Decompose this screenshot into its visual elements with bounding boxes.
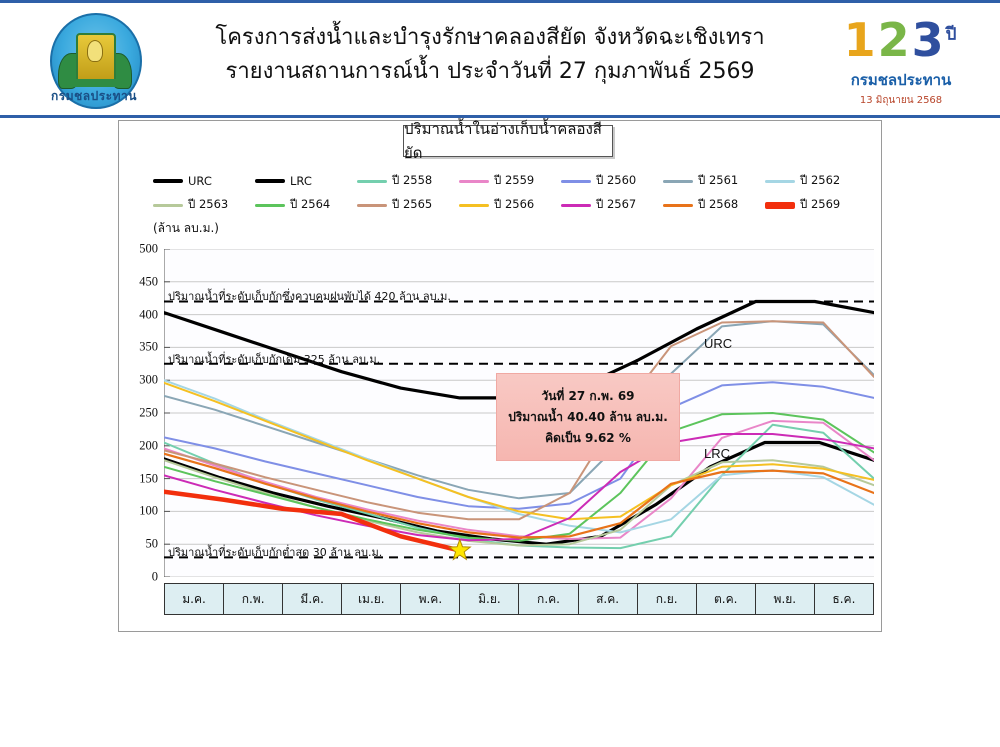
legend-item-URC[interactable]: URC: [153, 174, 255, 188]
legend-label: ปี 2559: [494, 172, 534, 190]
reference-line-label: ปริมาณน้ำที่ระดับเก็บกักเดิม 325 ล้าน ลบ…: [168, 350, 380, 368]
legend-label: ปี 2564: [290, 196, 330, 214]
legend-item-ปี-2560[interactable]: ปี 2560: [561, 172, 663, 190]
legend-item-ปี-2567[interactable]: ปี 2567: [561, 196, 663, 214]
chart-container: ปริมาณน้ำในอ่างเก็บน้ำคลองสียัด URCLRCปี…: [118, 120, 882, 632]
royal-irrigation-department-emblem: กรมชลประทาน: [32, 9, 156, 121]
month-axis-cell: ต.ค.: [697, 584, 756, 614]
legend-swatch-icon: [663, 180, 693, 183]
legend-row: URCLRCปี 2558ปี 2559ปี 2560ปี 2561ปี 256…: [153, 169, 869, 193]
y-axis-tick-label: 200: [139, 438, 158, 453]
legend-label: ปี 2566: [494, 196, 534, 214]
legend-swatch-icon: [153, 179, 183, 183]
emblem-deity-icon: [87, 40, 103, 62]
legend-label: ปี 2569: [800, 196, 840, 214]
month-axis-cell: มี.ค.: [283, 584, 342, 614]
logo-year-unit: ปี: [946, 25, 959, 45]
y-axis-tick-label: 250: [139, 406, 158, 421]
y-axis-tick-label: 150: [139, 471, 158, 486]
reference-line-label: ปริมาณน้ำที่ระดับเก็บกักต่ำสุด 30 ล้าน ล…: [168, 543, 382, 561]
page-header: กรมชลประทาน โครงการส่งน้ำและบำรุงรักษาคล…: [0, 0, 1000, 118]
anniversary-glyphs: 123ปี: [816, 17, 986, 63]
legend-item-ปี-2562[interactable]: ปี 2562: [765, 172, 867, 190]
legend-label: ปี 2562: [800, 172, 840, 190]
y-axis-tick-label: 450: [139, 274, 158, 289]
legend-swatch-icon: [459, 204, 489, 207]
y-axis-tick-label: 50: [146, 537, 159, 552]
legend-label: ปี 2567: [596, 196, 636, 214]
legend-swatch-icon: [357, 204, 387, 207]
chart-title: ปริมาณน้ำในอ่างเก็บน้ำคลองสียัด: [403, 125, 613, 157]
legend-swatch-icon: [765, 202, 795, 209]
month-axis: ม.ค.ก.พ.มี.ค.เม.ย.พ.ค.มิ.ย.ก.ค.ส.ค.ก.ย.ต…: [164, 583, 874, 615]
inline-series-label-lrc: LRC: [704, 446, 730, 461]
month-axis-cell: มิ.ย.: [460, 584, 519, 614]
legend-swatch-icon: [459, 180, 489, 183]
logo-date: 13 มิถุนายน 2568: [816, 93, 986, 108]
month-axis-cell: ส.ค.: [579, 584, 638, 614]
callout-date: วันที่ 27 ก.พ. 69: [541, 386, 634, 407]
legend-swatch-icon: [561, 204, 591, 207]
reference-line-label: ปริมาณน้ำที่ระดับเก็บกักซึ่งควบคุมฝนพับไ…: [168, 287, 451, 305]
inline-series-label-urc: URC: [704, 336, 732, 351]
emblem-label: กรมชลประทาน: [32, 87, 156, 107]
current-status-callout: วันที่ 27 ก.พ. 69 ปริมาณน้ำ 40.40 ล้าน ล…: [496, 373, 680, 461]
month-axis-cell: ธ.ค.: [815, 584, 873, 614]
legend-item-ปี-2559[interactable]: ปี 2559: [459, 172, 561, 190]
y-axis-tick-label: 400: [139, 307, 158, 322]
title-line-1: โครงการส่งน้ำและบำรุงรักษาคลองสียัด จังห…: [180, 21, 800, 55]
y-axis-tick-label: 0: [152, 570, 158, 585]
legend-swatch-icon: [561, 180, 591, 183]
legend-item-ปี-2569[interactable]: ปี 2569: [765, 196, 867, 214]
legend-swatch-icon: [255, 179, 285, 183]
legend-label: LRC: [290, 174, 312, 188]
callout-volume: ปริมาณน้ำ 40.40 ล้าน ลบ.ม.: [508, 407, 668, 428]
month-axis-cell: พ.ค.: [401, 584, 460, 614]
legend-label: ปี 2568: [698, 196, 738, 214]
y-axis-tick-label: 100: [139, 504, 158, 519]
month-axis-cell: ก.ย.: [638, 584, 697, 614]
legend-item-ปี-2563[interactable]: ปี 2563: [153, 196, 255, 214]
legend-item-ปี-2558[interactable]: ปี 2558: [357, 172, 459, 190]
legend-label: ปี 2560: [596, 172, 636, 190]
legend-label: URC: [188, 174, 212, 188]
legend-swatch-icon: [357, 180, 387, 183]
legend-item-LRC[interactable]: LRC: [255, 174, 357, 188]
y-axis-tick-label: 350: [139, 340, 158, 355]
logo-glyph-1: 1: [844, 13, 878, 67]
legend-swatch-icon: [153, 204, 183, 207]
legend-label: ปี 2563: [188, 196, 228, 214]
chart-unit-label: (ล้าน ลบ.ม.): [153, 219, 219, 238]
legend-item-ปี-2568[interactable]: ปี 2568: [663, 196, 765, 214]
month-axis-cell: ก.ค.: [519, 584, 578, 614]
legend-item-ปี-2565[interactable]: ปี 2565: [357, 196, 459, 214]
legend-item-ปี-2566[interactable]: ปี 2566: [459, 196, 561, 214]
legend-label: ปี 2558: [392, 172, 432, 190]
legend-swatch-icon: [765, 180, 795, 183]
page-title: โครงการส่งน้ำและบำรุงรักษาคลองสียัด จังห…: [180, 21, 800, 89]
legend-label: ปี 2565: [392, 196, 432, 214]
chart-legend: URCLRCปี 2558ปี 2559ปี 2560ปี 2561ปี 256…: [153, 169, 869, 217]
legend-item-ปี-2561[interactable]: ปี 2561: [663, 172, 765, 190]
month-axis-cell: ม.ค.: [165, 584, 224, 614]
y-axis-tick-label: 300: [139, 373, 158, 388]
legend-swatch-icon: [663, 204, 693, 207]
title-line-2: รายงานสถานการณ์น้ำ ประจำวันที่ 27 กุมภาพ…: [180, 55, 800, 89]
legend-item-ปี-2564[interactable]: ปี 2564: [255, 196, 357, 214]
month-axis-cell: พ.ย.: [756, 584, 815, 614]
anniversary-logo: 123ปี กรมชลประทาน 13 มิถุนายน 2568: [816, 17, 986, 113]
logo-glyph-3: 3: [912, 13, 946, 67]
legend-row: ปี 2563ปี 2564ปี 2565ปี 2566ปี 2567ปี 25…: [153, 193, 869, 217]
logo-glyph-2: 2: [878, 13, 912, 67]
logo-org-name: กรมชลประทาน: [816, 68, 986, 92]
legend-swatch-icon: [255, 204, 285, 207]
y-axis-tick-label: 500: [139, 242, 158, 257]
callout-percent: คิดเป็น 9.62 %: [545, 428, 631, 449]
month-axis-cell: เม.ย.: [342, 584, 401, 614]
legend-label: ปี 2561: [698, 172, 738, 190]
month-axis-cell: ก.พ.: [224, 584, 283, 614]
